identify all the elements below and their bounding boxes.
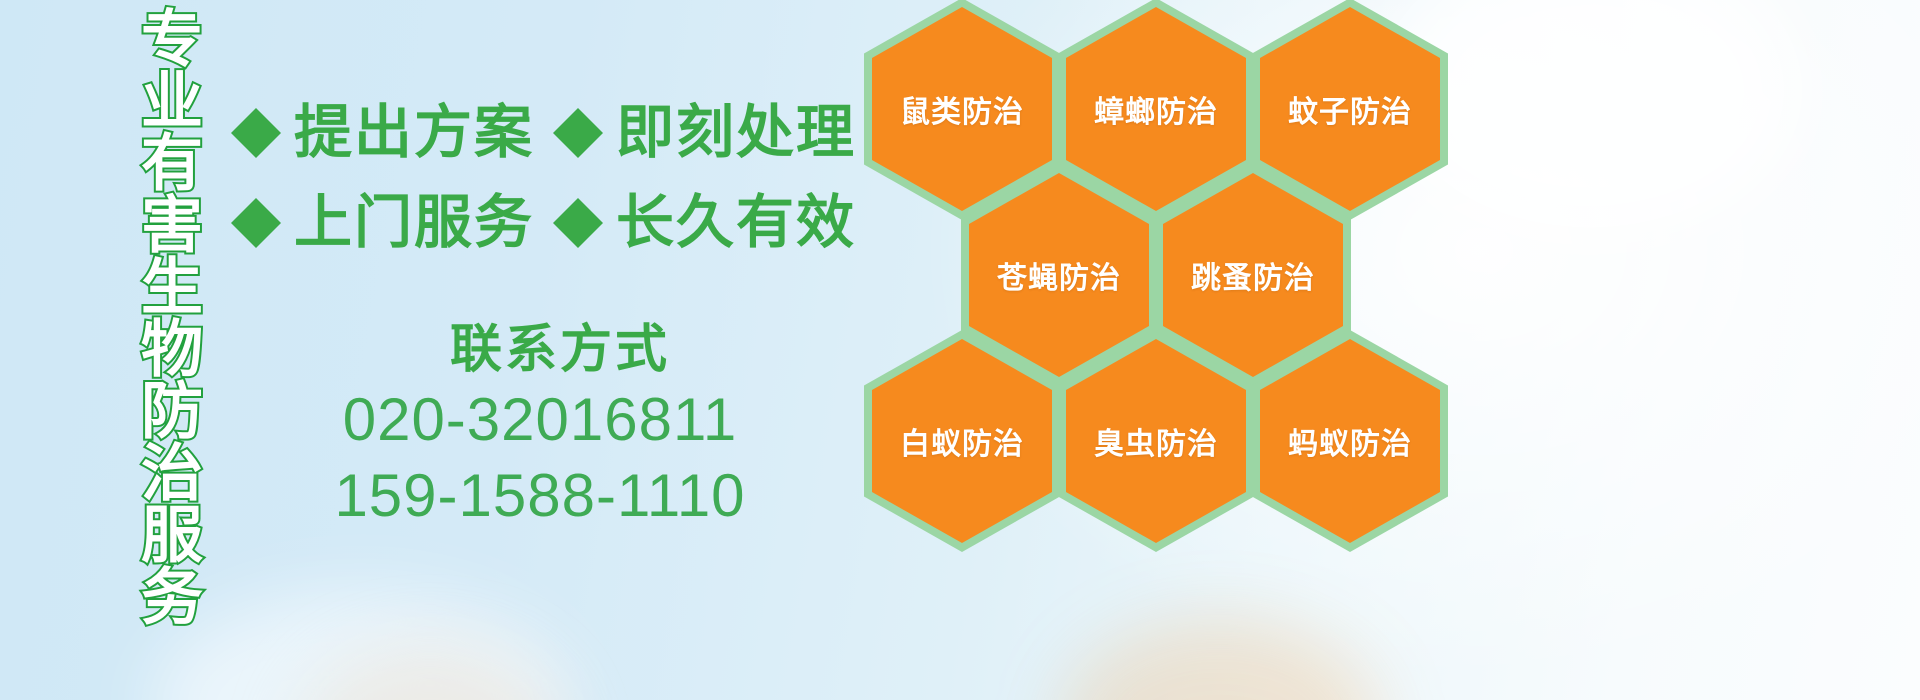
contact-block: 联系方式 020-32016811 159-1588-1110 (240, 318, 820, 534)
diamond-bullet-icon (228, 105, 284, 161)
service-label: 跳蚤防治 (1191, 253, 1315, 297)
service-label: 白蚁防治 (900, 419, 1024, 463)
slogan-item: 上门服务 (228, 194, 550, 252)
slogan-row: 上门服务 长久有效 (228, 178, 868, 268)
hexagon-face: 白蚁防治 (872, 339, 1052, 543)
slogan-label: 长久有效 (616, 194, 856, 252)
background-blur-blob (150, 590, 570, 700)
pest-control-banner: 专业有害生物防治服务 提出方案 即刻处理 上门服务 (0, 0, 1920, 700)
slogan-row: 提出方案 即刻处理 (228, 88, 868, 178)
slogan-label: 即刻处理 (616, 104, 856, 162)
slogan-item: 提出方案 (228, 104, 550, 162)
service-hexagon-grid: 鼠类防治 蟑螂防治 蚊子防治 苍蝇防治 跳蚤防治 白蚁防治 (862, 0, 1462, 700)
service-label: 臭虫防治 (1094, 419, 1218, 463)
slogan-label: 上门服务 (294, 194, 534, 252)
phone-number-landline[interactable]: 020-32016811 (260, 382, 820, 458)
diamond-bullet-icon (550, 105, 606, 161)
service-label: 蚂蚁防治 (1288, 419, 1412, 463)
diamond-bullet-icon (228, 195, 284, 251)
hexagon-face: 蟑螂防治 (1066, 7, 1246, 211)
hexagon-face: 鼠类防治 (872, 7, 1052, 211)
vertical-headline: 专业有害生物防治服务 (104, 6, 200, 566)
slogan-item: 长久有效 (550, 194, 872, 252)
service-label: 苍蝇防治 (997, 253, 1121, 297)
slogan-item: 即刻处理 (550, 104, 872, 162)
hexagon-face: 臭虫防治 (1066, 339, 1246, 543)
slogan-list: 提出方案 即刻处理 上门服务 长久有效 (228, 88, 868, 268)
phone-number-mobile[interactable]: 159-1588-1110 (260, 458, 820, 534)
slogan-label: 提出方案 (294, 104, 534, 162)
service-label: 蟑螂防治 (1094, 87, 1218, 131)
diamond-bullet-icon (550, 195, 606, 251)
contact-heading: 联系方式 (300, 318, 820, 382)
hexagon-face: 蚂蚁防治 (1260, 339, 1440, 543)
hexagon-face: 跳蚤防治 (1163, 173, 1343, 377)
background-blur-blob (300, 650, 560, 700)
service-label: 鼠类防治 (900, 87, 1024, 131)
hexagon-face: 苍蝇防治 (969, 173, 1149, 377)
service-label: 蚊子防治 (1288, 87, 1412, 131)
hexagon-face: 蚊子防治 (1260, 7, 1440, 211)
